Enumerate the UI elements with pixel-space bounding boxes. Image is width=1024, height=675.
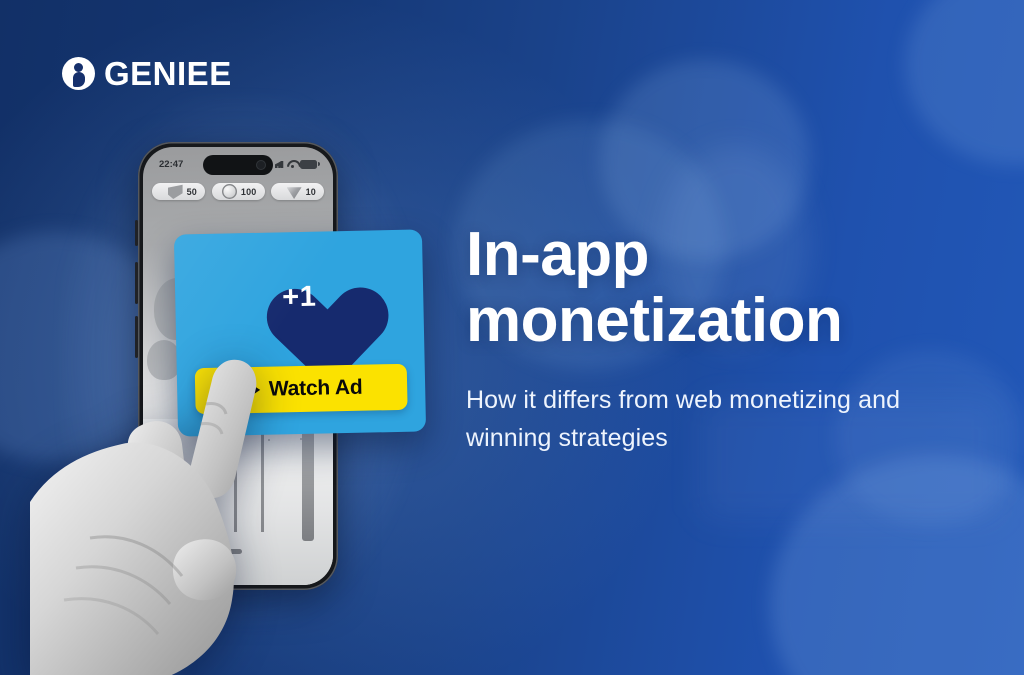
- coin-icon: [222, 184, 237, 199]
- headline-line-2: monetization: [466, 288, 966, 354]
- phone-volume-up-button: [135, 262, 138, 304]
- pointing-hand-icon: [30, 352, 330, 675]
- cellular-signal-icon: [275, 160, 284, 168]
- reward-amount-label: +1: [245, 280, 354, 315]
- bubble-decoration: [770, 455, 1024, 675]
- gem-icon: [287, 184, 302, 199]
- geniee-circle-person-icon: [62, 57, 95, 90]
- hud-pill-gems[interactable]: 10: [271, 183, 324, 200]
- phone-dynamic-island: [203, 155, 273, 175]
- promo-banner: GENIEE: [0, 0, 1024, 675]
- hud-pill-value: 50: [187, 187, 197, 197]
- status-time: 22:47: [159, 159, 183, 170]
- battery-icon: [300, 160, 317, 169]
- subtitle-line-1: How it differs from web monetizing: [466, 386, 851, 414]
- front-camera-icon: [256, 160, 266, 170]
- leaf-icon: [168, 184, 183, 199]
- brand-logo-text: GENIEE: [104, 57, 232, 90]
- page-subtitle: How it differs from web monetizing and w…: [466, 381, 956, 457]
- hud-pill-value: 10: [306, 187, 316, 197]
- heart-icon: +1: [244, 249, 354, 349]
- headline-line-1: In-app: [466, 220, 649, 289]
- headline-block: In-app monetization How it differs from …: [466, 222, 966, 457]
- bubble-decoration: [905, 0, 1024, 165]
- brand-logo[interactable]: GENIEE: [62, 57, 232, 90]
- game-hud: 50 100 10: [152, 183, 324, 200]
- hud-pill-value: 100: [241, 187, 257, 197]
- wifi-icon: [287, 160, 297, 168]
- page-title: In-app monetization: [466, 222, 966, 355]
- hud-pill-lives[interactable]: 50: [152, 183, 205, 200]
- hud-pill-coins[interactable]: 100: [212, 183, 265, 200]
- phone-silent-switch: [135, 220, 138, 246]
